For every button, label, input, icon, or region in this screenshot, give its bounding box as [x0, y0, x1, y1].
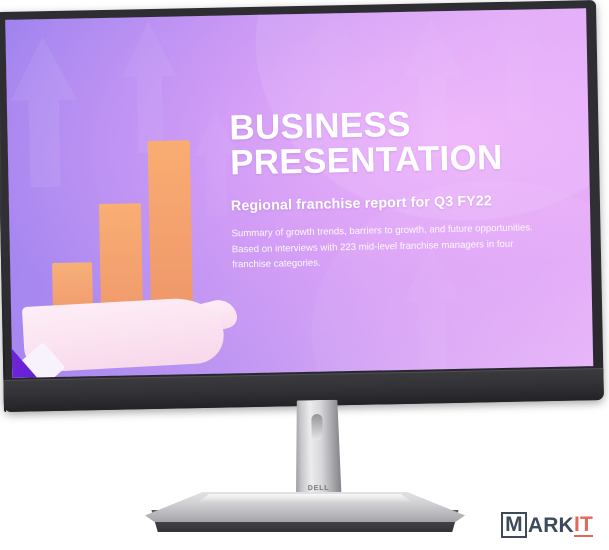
monitor-stand-base: [145, 492, 465, 534]
monitor-screen[interactable]: BUSINESS PRESENTATION Regional franchise…: [5, 8, 593, 378]
slide-subtitle: Regional franchise report for Q3 FY22: [231, 192, 578, 215]
slide-title: BUSINESS PRESENTATION: [229, 104, 577, 180]
watermark-accent-text: IT: [574, 514, 593, 537]
presentation-slide: BUSINESS PRESENTATION Regional franchise…: [5, 8, 593, 378]
monitor-stand-neck: DELL: [294, 400, 342, 507]
dell-monitor: BUSINESS PRESENTATION Regional franchise…: [0, 0, 604, 412]
product-photo-scene: BUSINESS PRESENTATION Regional franchise…: [0, 0, 609, 550]
slide-body-text: Summary of growth trends, barriers to gr…: [231, 221, 532, 274]
watermark-boxed-letter: M: [501, 512, 527, 538]
watermark-mid-text: ARK: [528, 515, 574, 536]
slide-title-line-2: PRESENTATION: [230, 139, 578, 181]
cable-management-slot: [311, 414, 322, 440]
chart-bar-3: [148, 140, 193, 313]
stand-base-highlight: [196, 494, 414, 503]
slide-text-block: BUSINESS PRESENTATION Regional franchise…: [229, 104, 579, 273]
chart-bar-2: [99, 203, 143, 314]
markit-watermark-logo: M ARK IT: [501, 512, 593, 538]
background-arrow-icon: [121, 21, 178, 154]
hand-holding-growth-bars-illustration: [5, 133, 238, 377]
